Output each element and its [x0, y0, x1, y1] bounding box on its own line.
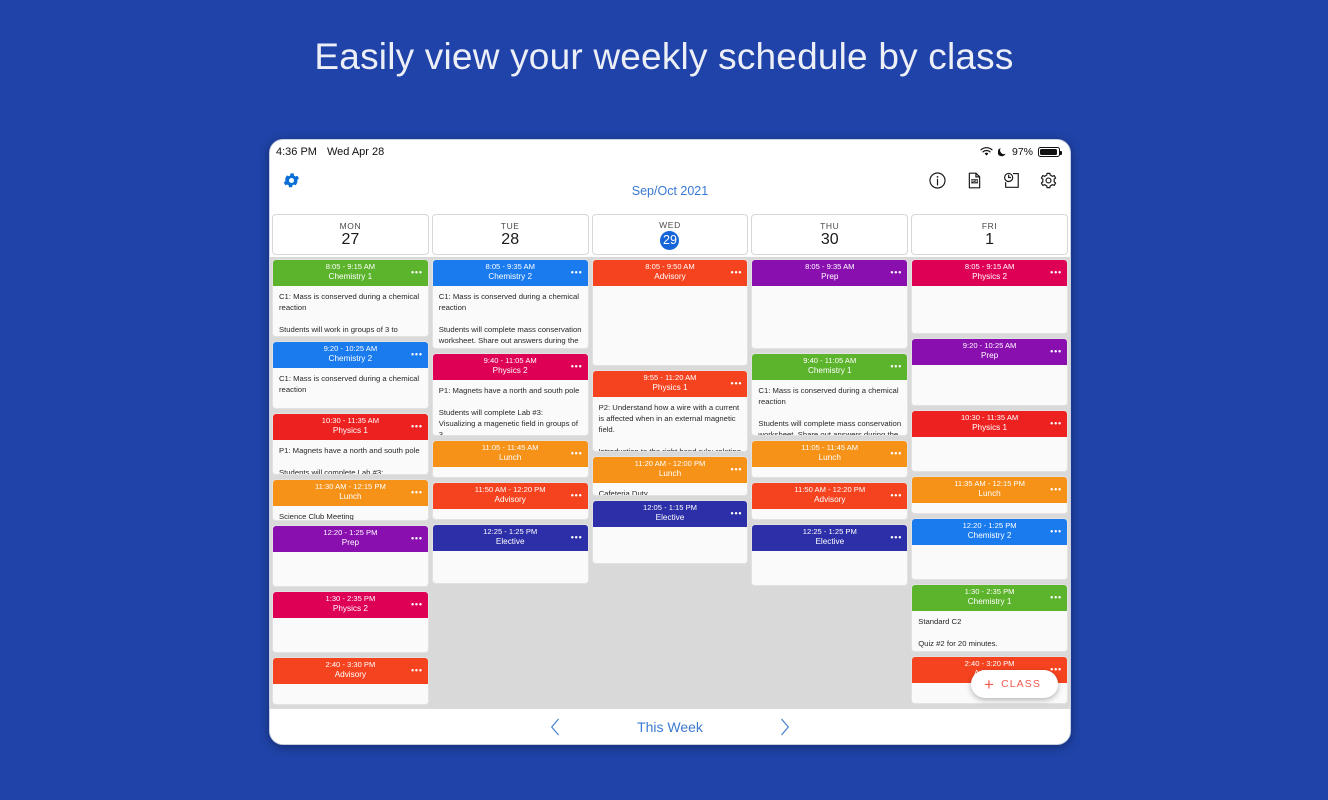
event-header[interactable]: 9:55 - 11:20 AMPhysics 1•••	[593, 371, 748, 397]
add-class-label: CLASS	[1001, 678, 1041, 690]
event-more-options-icon[interactable]: •••	[731, 379, 743, 388]
event-time: 11:20 AM - 12:00 PM	[607, 460, 734, 469]
event-notes: Science Club Meeting	[273, 506, 428, 520]
event-title: Lunch	[766, 453, 893, 463]
event-time: 11:05 - 11:45 AM	[766, 444, 893, 453]
event-title: Chemistry 2	[447, 272, 574, 282]
event-notes: C1: Mass is conserved during a chemical …	[433, 286, 588, 348]
event-title: Chemistry 2	[926, 531, 1053, 541]
calendar-event[interactable]: 8:05 - 9:15 AMPhysics 2•••	[911, 259, 1068, 334]
event-header[interactable]: 8:05 - 9:50 AMAdvisory•••	[593, 260, 748, 286]
event-more-options-icon[interactable]: •••	[1050, 527, 1062, 536]
event-title: Advisory	[607, 272, 734, 282]
calendar-event[interactable]: 9:40 - 11:05 AMChemistry 1•••C1: Mass is…	[751, 353, 908, 436]
event-time: 12:25 - 1:25 PM	[766, 528, 893, 537]
event-more-options-icon[interactable]: •••	[411, 488, 423, 497]
calendar-event[interactable]: 12:20 - 1:25 PMPrep•••	[272, 525, 429, 587]
event-header[interactable]: 8:05 - 9:15 AMChemistry 1•••	[273, 260, 428, 286]
event-header[interactable]: 10:30 - 11:35 AMPhysics 1•••	[912, 411, 1067, 437]
event-more-options-icon[interactable]: •••	[731, 509, 743, 518]
event-time: 8:05 - 9:35 AM	[766, 263, 893, 272]
day-number: 1	[985, 232, 994, 248]
day-of-week-label: WED	[659, 220, 681, 230]
event-more-options-icon[interactable]: •••	[1050, 419, 1062, 428]
event-more-options-icon[interactable]: •••	[411, 268, 423, 277]
event-time: 12:05 - 1:15 PM	[607, 504, 734, 513]
event-title: Lunch	[607, 469, 734, 479]
event-more-options-icon[interactable]: •••	[411, 534, 423, 543]
calendar-event[interactable]: 12:25 - 1:25 PMElective•••	[432, 524, 589, 584]
event-title: Chemistry 1	[766, 366, 893, 376]
add-class-button[interactable]: + CLASS	[971, 670, 1058, 698]
event-header[interactable]: 8:05 - 9:35 AMChemistry 2•••	[433, 260, 588, 286]
day-column-wed: 8:05 - 9:50 AMAdvisory•••9:55 - 11:20 AM…	[592, 259, 749, 706]
event-time: 9:20 - 10:25 AM	[926, 342, 1053, 351]
event-time: 11:05 - 11:45 AM	[447, 444, 574, 453]
day-of-week-label: MON	[340, 221, 362, 231]
event-header[interactable]: 8:05 - 9:35 AMPrep•••	[752, 260, 907, 286]
calendar-event[interactable]: 11:35 AM - 12:15 PMLunch•••	[911, 476, 1068, 514]
chevron-left-icon[interactable]	[548, 718, 563, 736]
moon-icon	[998, 147, 1007, 157]
calendar-event[interactable]: 8:05 - 9:35 AMChemistry 2•••C1: Mass is …	[432, 259, 589, 349]
event-header[interactable]: 11:30 AM - 12:15 PMLunch•••	[273, 480, 428, 506]
status-time: 4:36 PM	[276, 146, 317, 158]
event-title: Prep	[766, 272, 893, 282]
this-week-label[interactable]: This Week	[637, 719, 703, 735]
event-more-options-icon[interactable]: •••	[571, 268, 583, 277]
calendar-event[interactable]: 10:30 - 11:35 AMPhysics 1•••	[911, 410, 1068, 472]
calendar-event[interactable]: 2:40 - 3:30 PMAdvisory•••	[272, 657, 429, 705]
event-header[interactable]: 9:40 - 11:05 AMChemistry 1•••	[752, 354, 907, 380]
event-time: 10:30 - 11:35 AM	[926, 414, 1053, 423]
event-more-options-icon[interactable]: •••	[731, 268, 743, 277]
event-title: Chemistry 1	[926, 597, 1053, 607]
event-title: Advisory	[287, 670, 414, 680]
calendar-event[interactable]: 12:25 - 1:25 PMElective•••	[751, 524, 908, 586]
event-notes: Cafeteria Duty	[593, 483, 748, 495]
event-header[interactable]: 1:30 - 2:35 PMPhysics 2•••	[273, 592, 428, 618]
event-notes: P1: Magnets have a north and south pole …	[433, 380, 588, 435]
event-notes: C1: Mass is conserved during a chemical …	[273, 286, 428, 336]
calendar-event[interactable]: 1:30 - 2:35 PMChemistry 1•••Standard C2 …	[911, 584, 1068, 652]
day-header-mon[interactable]: MON27	[272, 214, 429, 255]
event-more-options-icon[interactable]: •••	[890, 362, 902, 371]
event-time: 9:55 - 11:20 AM	[607, 374, 734, 383]
calendar-event[interactable]: 8:05 - 9:35 AMPrep•••	[751, 259, 908, 349]
day-header-row: MON27TUE28WED29THU30FRI1	[270, 213, 1070, 257]
event-more-options-icon[interactable]: •••	[1050, 485, 1062, 494]
event-title: Prep	[287, 538, 414, 548]
event-more-options-icon[interactable]: •••	[571, 491, 583, 500]
day-number: 30	[821, 232, 839, 248]
event-more-options-icon[interactable]: •••	[571, 362, 583, 371]
event-more-options-icon[interactable]: •••	[1050, 268, 1062, 277]
calendar-event[interactable]: 11:50 AM - 12:20 PMAdvisory•••	[751, 482, 908, 520]
event-title: Physics 1	[926, 423, 1053, 433]
day-of-week-label: THU	[820, 221, 839, 231]
event-time: 10:30 - 11:35 AM	[287, 417, 414, 426]
event-notes	[273, 684, 428, 704]
day-number-today: 29	[660, 231, 679, 250]
calendar-event[interactable]: 9:55 - 11:20 AMPhysics 1•••P2: Understan…	[592, 370, 749, 452]
event-title: Physics 2	[287, 604, 414, 614]
calendar-event[interactable]: 11:30 AM - 12:15 PMLunch•••Science Club …	[272, 479, 429, 521]
event-notes: C1: Mass is conserved during a chemical …	[752, 380, 907, 435]
event-notes	[273, 552, 428, 586]
event-header[interactable]: 12:20 - 1:25 PMPrep•••	[273, 526, 428, 552]
event-more-options-icon[interactable]: •••	[890, 449, 902, 458]
event-title: Lunch	[287, 492, 414, 502]
event-time: 1:30 - 2:35 PM	[926, 588, 1053, 597]
event-more-options-icon[interactable]: •••	[411, 666, 423, 675]
calendar-event[interactable]: 11:20 AM - 12:00 PMLunch•••Cafeteria Dut…	[592, 456, 749, 496]
event-header[interactable]: 1:30 - 2:35 PMChemistry 1•••	[912, 585, 1067, 611]
event-time: 11:50 AM - 12:20 PM	[766, 486, 893, 495]
event-notes: Standard C2 Quiz #2 for 20 minutes. Read…	[912, 611, 1067, 651]
event-title: Lunch	[447, 453, 574, 463]
plus-icon: +	[984, 676, 995, 693]
event-title: Advisory	[447, 495, 574, 505]
event-time: 2:40 - 3:30 PM	[287, 661, 414, 670]
day-number: 27	[342, 232, 360, 248]
calendar-event[interactable]: 9:20 - 10:25 AMPrep•••	[911, 338, 1068, 406]
event-time: 8:05 - 9:15 AM	[287, 263, 414, 272]
event-title: Prep	[926, 351, 1053, 361]
event-header[interactable]: 11:20 AM - 12:00 PMLunch•••	[593, 457, 748, 483]
day-column-mon: 8:05 - 9:15 AMChemistry 1•••C1: Mass is …	[272, 259, 429, 706]
event-notes	[912, 286, 1067, 333]
event-header[interactable]: 11:35 AM - 12:15 PMLunch•••	[912, 477, 1067, 503]
event-title: Lunch	[926, 489, 1053, 499]
day-column-thu: 8:05 - 9:35 AMPrep•••9:40 - 11:05 AMChem…	[751, 259, 908, 706]
event-notes	[752, 551, 907, 585]
calendar-event[interactable]: 9:20 - 10:25 AMChemistry 2•••C1: Mass is…	[272, 341, 429, 409]
calendar-event[interactable]: 10:30 - 11:35 AMPhysics 1•••P1: Magnets …	[272, 413, 429, 475]
event-more-options-icon[interactable]: •••	[571, 533, 583, 542]
event-more-options-icon[interactable]: •••	[890, 533, 902, 542]
event-title: Elective	[447, 537, 574, 547]
event-time: 8:05 - 9:50 AM	[607, 263, 734, 272]
event-notes	[912, 365, 1067, 405]
event-header[interactable]: 11:50 AM - 12:20 PMAdvisory•••	[752, 483, 907, 509]
event-time: 9:20 - 10:25 AM	[287, 345, 414, 354]
event-more-options-icon[interactable]: •••	[731, 465, 743, 474]
event-more-options-icon[interactable]: •••	[1050, 593, 1062, 602]
calendar-event[interactable]: 8:05 - 9:15 AMChemistry 1•••C1: Mass is …	[272, 259, 429, 337]
event-notes: C1: Mass is conserved during a chemical …	[273, 368, 428, 408]
event-title: Physics 1	[287, 426, 414, 436]
event-header[interactable]: 9:40 - 11:05 AMPhysics 2•••	[433, 354, 588, 380]
event-header[interactable]: 9:20 - 10:25 AMChemistry 2•••	[273, 342, 428, 368]
event-title: Chemistry 1	[287, 272, 414, 282]
day-of-week-label: TUE	[501, 221, 520, 231]
event-notes	[912, 503, 1067, 513]
event-header[interactable]: 2:40 - 3:30 PMAdvisory•••	[273, 658, 428, 684]
event-header[interactable]: 11:05 - 11:45 AMLunch•••	[752, 441, 907, 467]
tablet-device-frame: 4:36 PM Wed Apr 28 97%	[269, 139, 1071, 745]
chevron-right-icon[interactable]	[777, 718, 792, 736]
event-notes: P1: Magnets have a north and south pole …	[273, 440, 428, 474]
event-time: 12:25 - 1:25 PM	[447, 528, 574, 537]
calendar-event[interactable]: 9:40 - 11:05 AMPhysics 2•••P1: Magnets h…	[432, 353, 589, 436]
event-title: Physics 2	[926, 272, 1053, 282]
event-time: 9:40 - 11:05 AM	[447, 357, 574, 366]
event-time: 11:30 AM - 12:15 PM	[287, 483, 414, 492]
event-title: Physics 1	[607, 383, 734, 393]
event-more-options-icon[interactable]: •••	[411, 350, 423, 359]
battery-percent: 97%	[1012, 146, 1033, 158]
event-notes	[593, 527, 748, 563]
week-grid: 8:05 - 9:15 AMChemistry 1•••C1: Mass is …	[270, 257, 1070, 708]
event-time: 2:40 - 3:20 PM	[926, 660, 1053, 669]
month-label: Sep/Oct 2021	[270, 184, 1070, 198]
day-of-week-label: FRI	[982, 221, 998, 231]
event-more-options-icon[interactable]: •••	[890, 268, 902, 277]
event-more-options-icon[interactable]: •••	[411, 600, 423, 609]
event-header[interactable]: 12:25 - 1:25 PMElective•••	[433, 525, 588, 551]
day-header-wed[interactable]: WED29	[592, 214, 749, 255]
day-header-tue[interactable]: TUE28	[432, 214, 589, 255]
day-column-fri: 8:05 - 9:15 AMPhysics 2•••9:20 - 10:25 A…	[911, 259, 1068, 706]
day-header-thu[interactable]: THU30	[751, 214, 908, 255]
event-time: 8:05 - 9:15 AM	[926, 263, 1053, 272]
event-header[interactable]: 11:05 - 11:45 AMLunch•••	[433, 441, 588, 467]
event-notes	[752, 286, 907, 348]
event-title: Physics 2	[447, 366, 574, 376]
event-notes	[273, 618, 428, 652]
event-notes	[912, 545, 1067, 579]
event-time: 8:05 - 9:35 AM	[447, 263, 574, 272]
status-date: Wed Apr 28	[327, 146, 384, 158]
event-notes	[912, 437, 1067, 471]
event-notes	[433, 509, 588, 519]
event-header[interactable]: 12:20 - 1:25 PMChemistry 2•••	[912, 519, 1067, 545]
month-label-row: Sep/Oct 2021	[270, 197, 1070, 213]
calendar-event[interactable]: 11:05 - 11:45 AMLunch•••	[432, 440, 589, 478]
event-more-options-icon[interactable]: •••	[571, 449, 583, 458]
page-title: Easily view your weekly schedule by clas…	[0, 36, 1328, 78]
event-header[interactable]: 9:20 - 10:25 AMPrep•••	[912, 339, 1067, 365]
event-header[interactable]: 12:05 - 1:15 PMElective•••	[593, 501, 748, 527]
event-more-options-icon[interactable]: •••	[411, 422, 423, 431]
event-notes	[752, 467, 907, 477]
event-time: 9:40 - 11:05 AM	[766, 357, 893, 366]
day-number: 28	[501, 232, 519, 248]
calendar-event[interactable]: 12:05 - 1:15 PMElective•••	[592, 500, 749, 564]
event-time: 12:20 - 1:25 PM	[926, 522, 1053, 531]
event-more-options-icon[interactable]: •••	[890, 491, 902, 500]
status-bar: 4:36 PM Wed Apr 28 97%	[270, 140, 1070, 163]
event-notes	[433, 551, 588, 583]
calendar-event[interactable]: 11:05 - 11:45 AMLunch•••	[751, 440, 908, 478]
svg-text:PDF: PDF	[971, 179, 977, 183]
day-header-fri[interactable]: FRI1	[911, 214, 1068, 255]
event-header[interactable]: 12:25 - 1:25 PMElective•••	[752, 525, 907, 551]
day-column-tue: 8:05 - 9:35 AMChemistry 2•••C1: Mass is …	[432, 259, 589, 706]
event-header[interactable]: 11:50 AM - 12:20 PMAdvisory•••	[433, 483, 588, 509]
wifi-icon	[980, 147, 993, 157]
event-title: Chemistry 2	[287, 354, 414, 364]
event-time: 1:30 - 2:35 PM	[287, 595, 414, 604]
event-notes	[433, 467, 588, 477]
event-notes	[752, 509, 907, 519]
calendar-event[interactable]: 12:20 - 1:25 PMChemistry 2•••	[911, 518, 1068, 580]
calendar-event[interactable]: 1:30 - 2:35 PMPhysics 2•••	[272, 591, 429, 653]
event-title: Advisory	[766, 495, 893, 505]
battery-icon	[1038, 147, 1060, 157]
event-header[interactable]: 10:30 - 11:35 AMPhysics 1•••	[273, 414, 428, 440]
event-more-options-icon[interactable]: •••	[1050, 347, 1062, 356]
event-title: Elective	[766, 537, 893, 547]
event-notes	[593, 286, 748, 365]
event-time: 11:35 AM - 12:15 PM	[926, 480, 1053, 489]
event-time: 12:20 - 1:25 PM	[287, 529, 414, 538]
event-notes: P2: Understand how a wire with a current…	[593, 397, 748, 451]
week-navigation-bar: This Week	[270, 708, 1070, 744]
event-title: Elective	[607, 513, 734, 523]
event-header[interactable]: 8:05 - 9:15 AMPhysics 2•••	[912, 260, 1067, 286]
calendar-event[interactable]: 8:05 - 9:50 AMAdvisory•••	[592, 259, 749, 366]
calendar-event[interactable]: 11:50 AM - 12:20 PMAdvisory•••	[432, 482, 589, 520]
event-time: 11:50 AM - 12:20 PM	[447, 486, 574, 495]
